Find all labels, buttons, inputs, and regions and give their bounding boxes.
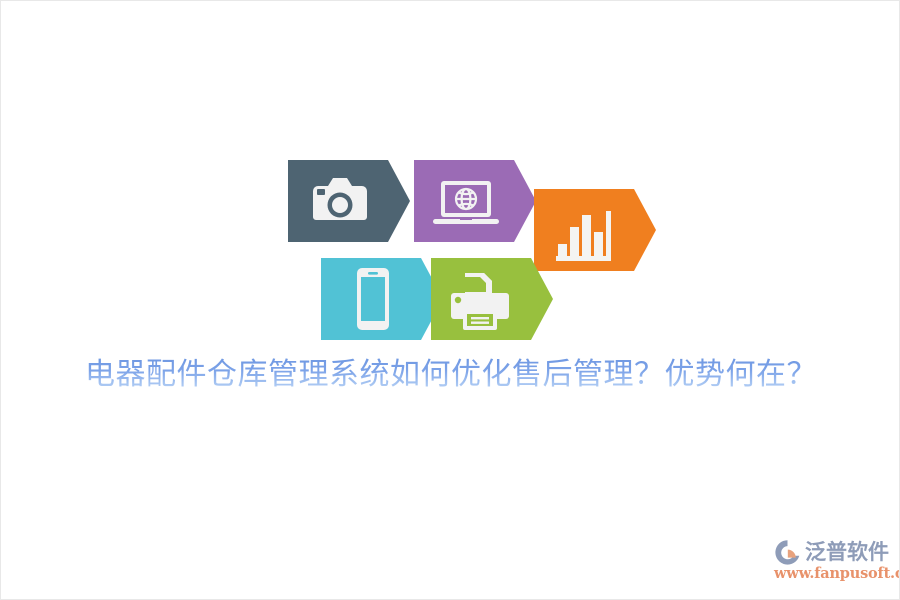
printer-icon — [451, 273, 509, 330]
printer-tile — [431, 258, 553, 340]
bar-chart-icon — [556, 211, 611, 261]
fanpu-logo-icon — [773, 538, 803, 566]
camera-tile — [288, 160, 410, 242]
phone-tile — [321, 258, 443, 340]
brand-logo-row: 泛普软件 — [773, 537, 889, 567]
brand-name: 泛普软件 — [805, 538, 889, 566]
laptop-globe-icon — [433, 181, 499, 224]
smartphone-icon — [357, 268, 389, 330]
camera-icon — [313, 178, 367, 220]
process-arrow-icon-banner — [1, 1, 900, 361]
laptop-tile — [414, 160, 536, 242]
page-title: 电器配件仓库管理系统如何优化售后管理？优势何在？ — [1, 354, 900, 396]
chart-tile — [534, 189, 656, 271]
brand-watermark: 泛普软件 www.fanpusoft.com — [773, 537, 893, 591]
brand-url: www.fanpusoft.com — [774, 565, 900, 582]
page-canvas: 电器配件仓库管理系统如何优化售后管理？优势何在？ 泛普软件 www.fanpus… — [0, 0, 900, 600]
